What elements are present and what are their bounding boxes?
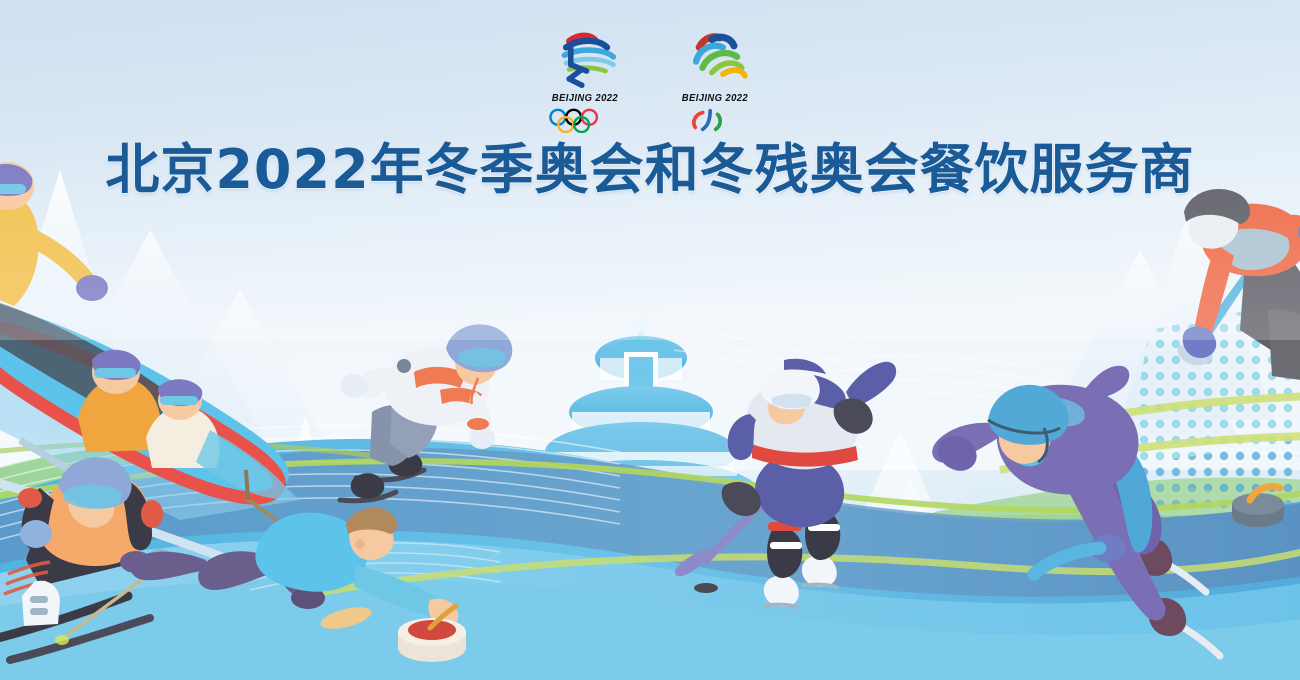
olympic-emblem[interactable]: BEIJING 2022 <box>535 30 635 133</box>
emblem-row: BEIJING 2022 <box>0 30 1300 133</box>
paralympic-agitos-icon <box>673 107 757 133</box>
beijing-2022-banner: BEIJING 2022 <box>0 0 1300 680</box>
olympic-emblem-icon <box>545 30 625 90</box>
paralympic-wordmark: BEIJING 2022 <box>682 93 748 104</box>
banner-title-container: 北京2022年冬季奥会和冬残奥会餐饮服务商 <box>0 140 1300 200</box>
page-title: 北京2022年冬季奥会和冬残奥会餐饮服务商 <box>105 140 1194 200</box>
paralympic-emblem-icon <box>675 30 755 90</box>
paralympic-emblem[interactable]: BEIJING 2022 <box>665 30 765 133</box>
olympic-rings-icon <box>543 107 627 133</box>
olympic-wordmark: BEIJING 2022 <box>552 93 618 104</box>
